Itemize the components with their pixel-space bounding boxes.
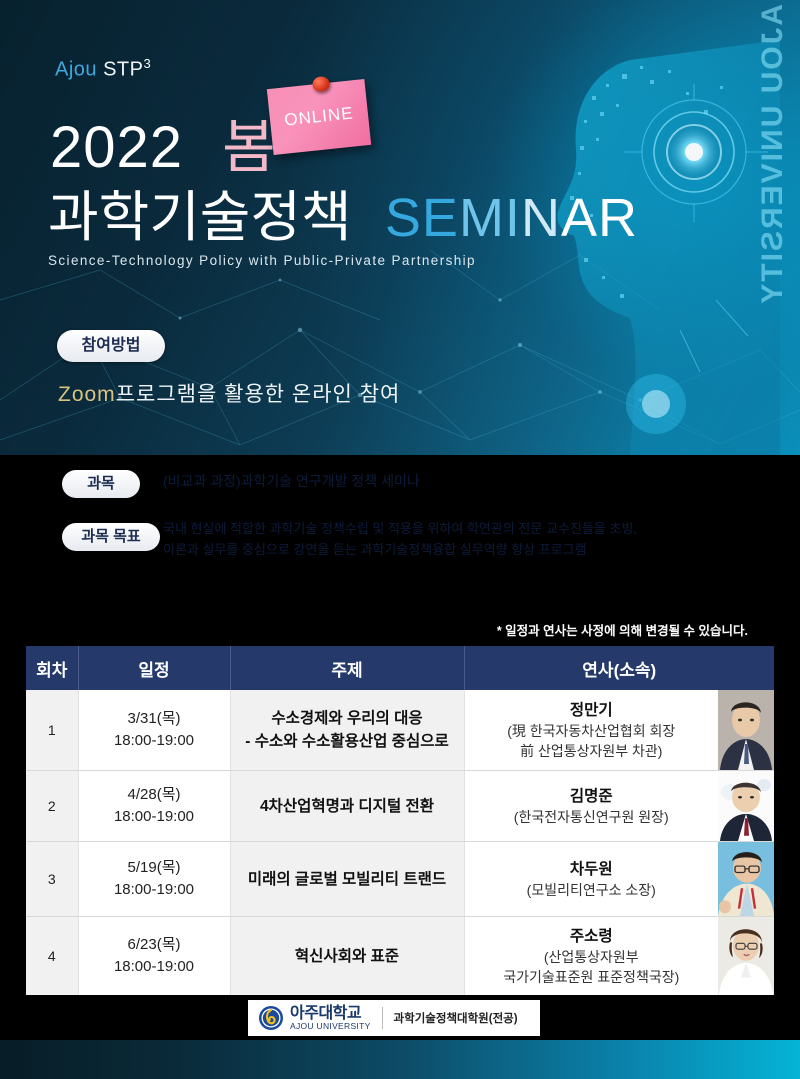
session-date: 6/23(목) 18:00-19:00 [78,917,230,996]
table-row: 1 3/31(목) 18:00-19:00 수소경제와 우리의 대응 - 수소와… [26,690,774,771]
time-value: 18:00-19:00 [79,879,230,901]
session-topic: 미래의 글로벌 모빌리티 트랜드 [230,842,464,917]
date-value: 6/23(목) [79,934,230,956]
session-date: 3/31(목) 18:00-19:00 [78,690,230,771]
speaker-name: 정만기 [471,700,713,721]
seminar-part-1: SE [385,188,459,248]
speaker-photo [718,690,774,770]
speaker-photo [718,917,774,995]
col-header-topic: 주제 [230,646,464,690]
stp-superscript: 3 [144,56,152,71]
speaker-org-line-1: (산업통상자원부 [471,947,713,967]
topic-line-1: 미래의 글로벌 모빌리티 트랜드 [237,868,458,891]
speaker-org-line-1: (現 한국자동차산업협회 회장 [471,721,713,741]
university-name-ko: 아주대학교 [290,1006,371,1021]
session-date: 5/19(목) 18:00-19:00 [78,842,230,917]
col-header-speaker: 연사(소속) [464,646,774,690]
hero-banner: AJOU UNIVERSITY Ajou STP3 2022 봄 ONLINE … [0,0,800,455]
schedule-disclaimer: * 일정과 연사는 사정에 의해 변경될 수 있습니다. [497,620,748,639]
university-name-en: AJOU UNIVERSITY [290,1021,371,1031]
speaker-photo [718,771,774,841]
hero-title: 과학기술정책 SEMINAR [48,172,638,252]
schedule-table: 회차 일정 주제 연사(소속) 1 3/31(목) 18:00-19:00 수소… [26,646,774,995]
hero-subtitle: Science-Technology Policy with Public-Pr… [48,253,476,268]
speaker-name: 주소령 [471,926,713,947]
topic-line-2: - 수소와 수소활용산업 중심으로 [237,730,458,753]
date-value: 4/28(목) [79,784,230,806]
session-topic: 수소경제와 우리의 대응 - 수소와 수소활용산업 중심으로 [230,690,464,771]
speaker-name: 차두원 [471,859,713,880]
session-topic: 혁신사회와 표준 [230,917,464,996]
department-name: 과학기술정책대학원(전공) [394,1010,518,1026]
session-topic: 4차산업혁명과 디지털 전환 [230,771,464,842]
footer-section: 아주대학교 AJOU UNIVERSITY 과학기술정책대학원(전공) [0,995,800,1045]
hero-season: 봄 [222,115,276,180]
session-speaker: 정만기 (現 한국자동차산업협회 회장 前 산업통상자원부 차관) [464,690,774,771]
ajou-emblem-icon [258,1005,284,1031]
logo-divider [382,1007,383,1029]
topic-line-1: 수소경제와 우리의 대응 [237,707,458,730]
goal-line-2: 이론과 실무를 중심으로 강연을 듣는 과학기술정책융합 실무역량 향상 프로그… [163,539,637,560]
seminar-part-4: AR [561,188,638,248]
speaker-photo [718,842,774,916]
ajou-word: Ajou [55,59,97,81]
session-number: 4 [26,917,78,996]
session-speaker: 주소령 (산업통상자원부 국가기술표준원 표준정책국장) [464,917,774,996]
online-label: ONLINE [269,102,369,132]
online-sticky-note: ONLINE [267,79,371,155]
course-info-section: 과목 (비교과 과정)과학기술 연구개발 정책 세미나 과목 목표 국내 현실에… [0,455,800,620]
speaker-name: 김명준 [471,786,713,807]
col-header-date: 일정 [78,646,230,690]
pushpin-icon [312,76,330,93]
speaker-org-line-1: (모빌리티연구소 소장) [471,880,713,900]
ajou-stp-logo: Ajou STP3 [55,56,151,82]
table-row: 4 6/23(목) 18:00-19:00 혁신사회와 표준 주소령 (산업통상… [26,917,774,996]
topic-line-1: 혁신사회와 표준 [237,945,458,968]
table-row: 2 4/28(목) 18:00-19:00 4차산업혁명과 디지털 전환 김명준… [26,771,774,842]
join-method-rest: 프로그램을 활용한 온라인 참여 [116,383,401,406]
vertical-watermark: AJOU UNIVERSITY [756,4,796,304]
join-method-text: Zoom프로그램을 활용한 온라인 참여 [58,378,400,408]
time-value: 18:00-19:00 [79,806,230,828]
bottom-gradient-strip [0,1040,800,1079]
session-date: 4/28(목) 18:00-19:00 [78,771,230,842]
stp-word: STP [103,59,143,81]
goal-line-1: 국내 현실에 적합한 과학기술 정책수립 및 적용을 위하여 학연관의 전문 교… [163,518,637,539]
session-number: 1 [26,690,78,771]
table-row: 3 5/19(목) 18:00-19:00 미래의 글로벌 모빌리티 트랜드 차… [26,842,774,917]
date-value: 5/19(목) [79,857,230,879]
join-method-badge: 참여방법 [57,330,165,362]
university-name-block: 아주대학교 AJOU UNIVERSITY [290,1006,371,1031]
seminar-part-2: MI [459,188,521,248]
speaker-org-line-2: 국가기술표준원 표준정책국장) [471,967,713,987]
speaker-org-line-1: (한국전자통신연구원 원장) [471,807,713,827]
speaker-org-line-2: 前 산업통상자원부 차관) [471,741,713,761]
time-value: 18:00-19:00 [79,730,230,752]
university-logo-box: 아주대학교 AJOU UNIVERSITY 과학기술정책대학원(전공) [248,1000,540,1036]
col-header-session: 회차 [26,646,78,690]
subject-value: (비교과 과정)과학기술 연구개발 정책 세미나 [163,471,420,491]
hero-year: 2022 [50,115,183,180]
topic-line-1: 4차산업혁명과 디지털 전환 [237,795,458,818]
date-value: 3/31(목) [79,708,230,730]
session-speaker: 차두원 (모빌리티연구소 소장) [464,842,774,917]
session-number: 2 [26,771,78,842]
subject-badge: 과목 [62,470,140,498]
zoom-keyword: Zoom [58,383,116,406]
hero-title-korean: 과학기술정책 [48,186,352,248]
session-speaker: 김명준 (한국전자통신연구원 원장) [464,771,774,842]
schedule-section: * 일정과 연사는 사정에 의해 변경될 수 있습니다. 회차 일정 주제 연사… [0,620,800,995]
seminar-part-3: N [521,188,561,248]
goal-value: 국내 현실에 적합한 과학기술 정책수립 및 적용을 위하여 학연관의 전문 교… [163,518,637,560]
table-header-row: 회차 일정 주제 연사(소속) [26,646,774,690]
goal-badge: 과목 목표 [62,523,160,551]
session-number: 3 [26,842,78,917]
time-value: 18:00-19:00 [79,956,230,978]
hero-title-seminar: SEMINAR [385,188,638,248]
